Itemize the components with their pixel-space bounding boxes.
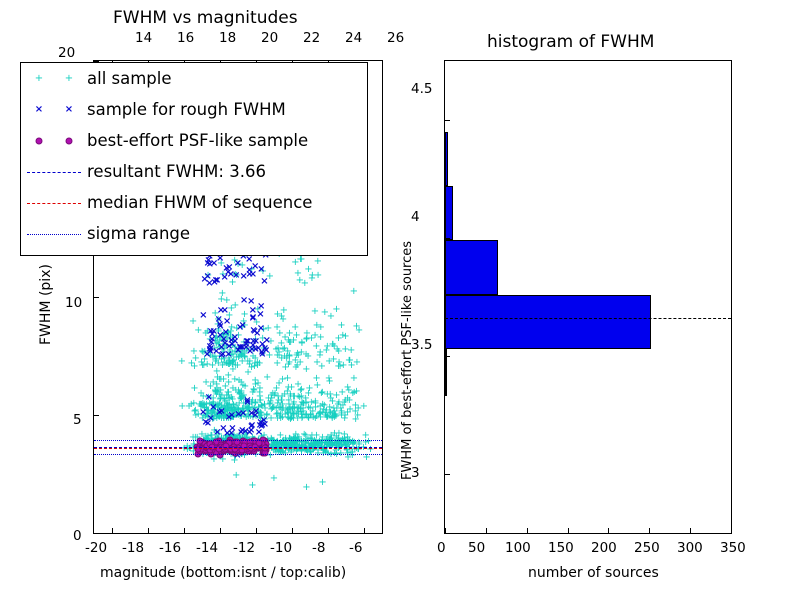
data-point: + [290, 403, 298, 413]
data-point: + [324, 412, 332, 422]
data-point: + [269, 436, 277, 446]
data-point: + [211, 410, 219, 420]
data-point: + [189, 317, 197, 327]
data-point: + [266, 399, 274, 409]
data-point: + [247, 363, 255, 373]
data-point: + [204, 393, 212, 403]
data-point: + [307, 334, 315, 344]
data-point: + [233, 361, 241, 371]
data-point: + [330, 411, 338, 421]
data-point: + [326, 390, 334, 400]
data-point: × [231, 337, 239, 347]
data-point: + [316, 402, 324, 412]
data-point: + [277, 396, 285, 406]
data-point: + [284, 413, 292, 423]
data-point: + [216, 408, 224, 418]
data-point: + [226, 348, 234, 358]
data-point: + [255, 359, 263, 369]
data-point: + [301, 394, 309, 404]
data-point: + [237, 378, 245, 388]
data-point: + [189, 433, 197, 443]
data-point: + [202, 378, 210, 388]
data-point: + [272, 410, 280, 420]
data-point: + [239, 399, 247, 409]
data-point: × [224, 268, 232, 278]
data-point: × [260, 416, 268, 426]
data-point: + [337, 411, 345, 421]
data-point: + [323, 390, 331, 400]
data-point: + [318, 400, 326, 410]
left-ytick-0: 0 [73, 528, 82, 544]
data-point: + [213, 373, 221, 383]
data-point: + [213, 437, 221, 447]
data-point: + [223, 333, 231, 343]
data-point: + [251, 398, 259, 408]
data-point: + [285, 414, 293, 424]
data-point: + [332, 412, 340, 422]
axis-tick [445, 528, 446, 533]
data-point: + [292, 363, 300, 373]
data-point: + [235, 399, 243, 409]
data-point: + [220, 414, 228, 424]
data-point: + [288, 405, 296, 415]
data-point: × [238, 426, 246, 436]
data-point: + [238, 261, 246, 271]
top-tick-16: 16 [177, 30, 194, 46]
data-point: + [245, 406, 253, 416]
data-point: + [309, 407, 317, 417]
data-point: + [200, 403, 208, 413]
data-point: + [228, 437, 236, 447]
xtick--18: -18 [122, 540, 144, 556]
data-point: + [315, 410, 323, 420]
data-point: + [209, 398, 217, 408]
data-point: + [215, 343, 223, 353]
data-point: + [260, 344, 268, 354]
data-point: + [316, 408, 324, 418]
data-point: + [238, 344, 246, 354]
data-point: + [217, 295, 225, 305]
data-point: + [250, 362, 258, 372]
data-point: + [318, 433, 326, 443]
data-point: + [200, 355, 208, 365]
data-point: × [245, 255, 253, 265]
legend-label-all-sample: all sample [87, 69, 172, 88]
data-point: + [294, 404, 302, 414]
data-point: + [190, 384, 198, 394]
data-point: + [216, 333, 224, 343]
data-point: + [238, 357, 246, 367]
data-point: + [295, 393, 303, 403]
data-point: + [187, 400, 195, 410]
data-point: + [297, 385, 305, 395]
data-point: + [213, 384, 221, 394]
data-point: + [296, 255, 304, 265]
data-point: + [282, 354, 290, 364]
data-point: + [217, 403, 225, 413]
legend-label-resultant-fwhm: resultant FWHM: 3.66 [87, 162, 266, 181]
data-point: × [256, 421, 264, 431]
data-point: × [217, 343, 225, 353]
data-point: + [281, 441, 289, 451]
data-point: + [244, 368, 252, 378]
data-point: + [207, 437, 215, 447]
data-point: + [354, 411, 362, 421]
data-point: + [293, 433, 301, 443]
data-point: + [228, 358, 236, 368]
data-point: + [220, 406, 228, 416]
data-point: + [223, 335, 231, 345]
data-point: + [323, 413, 331, 423]
data-point: × [225, 342, 233, 352]
data-point: + [313, 358, 321, 368]
legend-marker-dashed-red [21, 187, 87, 218]
data-point: + [231, 361, 239, 371]
data-point: + [311, 397, 319, 407]
hist-xtick-350: 350 [720, 540, 746, 556]
data-point: + [274, 392, 282, 402]
data-point: × [257, 265, 265, 275]
data-point: + [251, 399, 259, 409]
data-point: + [248, 433, 256, 443]
data-point: + [281, 333, 289, 343]
data-point: + [267, 414, 275, 424]
data-point: + [225, 436, 233, 446]
data-point: + [334, 400, 342, 410]
data-point: + [254, 305, 262, 315]
data-point: + [211, 334, 219, 344]
data-point: + [229, 413, 237, 423]
data-point: + [231, 347, 239, 357]
data-point: + [214, 315, 222, 325]
data-point: + [201, 347, 209, 357]
data-point: + [211, 402, 219, 412]
data-point: + [200, 400, 208, 410]
data-point: + [276, 329, 284, 339]
median-fwhm-line [94, 448, 382, 449]
xtick--8: -8 [312, 540, 325, 556]
axis-tick [94, 415, 99, 416]
data-point: + [255, 412, 263, 422]
data-point: + [325, 357, 333, 367]
data-point: + [216, 412, 224, 422]
data-point: + [259, 344, 267, 354]
data-point: × [212, 347, 220, 357]
data-point: × [260, 277, 268, 287]
data-point: + [334, 347, 342, 357]
data-point: + [204, 271, 212, 281]
data-point: + [337, 321, 345, 331]
data-point: + [339, 361, 347, 371]
axis-tick [328, 528, 329, 533]
data-point: + [290, 398, 298, 408]
data-point: + [257, 401, 265, 411]
data-point: + [267, 405, 275, 415]
legend-marker-dot [21, 125, 87, 156]
data-point: + [227, 433, 235, 443]
data-point: × [249, 306, 257, 316]
data-point: + [204, 406, 212, 416]
axis-tick [94, 533, 99, 534]
sigma-range-upper [94, 440, 382, 441]
data-point: + [352, 387, 360, 397]
data-point: + [285, 329, 293, 339]
data-point: + [340, 430, 348, 440]
data-point: + [202, 403, 210, 413]
data-point: + [285, 351, 293, 361]
data-point: × [215, 408, 223, 418]
hist-ytick-4-5: 4.5 [411, 81, 432, 97]
data-point: + [354, 404, 362, 414]
data-point: + [290, 437, 298, 447]
data-point: × [205, 279, 213, 289]
data-point: + [273, 414, 281, 424]
data-point: × [224, 350, 232, 360]
data-point: × [203, 350, 211, 360]
data-point: + [209, 437, 217, 447]
data-point: + [219, 270, 227, 280]
data-point: + [274, 409, 282, 419]
data-point: + [229, 401, 237, 411]
data-point: + [284, 336, 292, 346]
data-point: + [300, 437, 308, 447]
data-point: + [323, 413, 331, 423]
data-point: + [283, 387, 291, 397]
data-point: × [227, 270, 235, 280]
data-point: + [294, 392, 302, 402]
data-point: + [219, 455, 227, 465]
data-point: + [254, 437, 262, 447]
data-point: + [286, 390, 294, 400]
data-point: + [199, 448, 207, 458]
xtick--12: -12 [233, 540, 255, 556]
data-point: × [201, 275, 209, 285]
data-point: + [223, 405, 231, 415]
data-point: + [204, 349, 212, 359]
data-point: × [217, 407, 225, 417]
data-point: + [224, 359, 232, 369]
data-point: + [244, 412, 252, 422]
data-point: + [229, 365, 237, 375]
data-point: × [248, 345, 256, 355]
data-point: + [322, 411, 330, 421]
data-point: + [204, 412, 212, 422]
data-point: + [278, 448, 286, 458]
data-point: + [242, 434, 250, 444]
data-point: + [195, 400, 203, 410]
data-point: + [229, 436, 237, 446]
axis-tick [649, 528, 650, 533]
data-point: + [219, 337, 227, 347]
data-point: + [234, 404, 242, 414]
data-point: × [242, 337, 250, 347]
data-point: + [200, 411, 208, 421]
data-point: × [254, 344, 262, 354]
data-point: + [275, 379, 283, 389]
data-point: + [270, 474, 278, 484]
data-point: × [199, 311, 207, 321]
axis-tick [445, 356, 450, 357]
data-point: + [315, 437, 323, 447]
data-point: + [227, 430, 235, 440]
data-point: + [217, 414, 225, 424]
data-point: + [274, 448, 282, 458]
data-point: + [218, 345, 226, 355]
data-point: + [297, 255, 305, 265]
data-point: + [212, 332, 220, 342]
data-point: + [234, 345, 242, 355]
data-point: + [204, 432, 212, 442]
data-point: + [355, 326, 363, 336]
data-point: + [287, 383, 295, 393]
data-point: + [199, 399, 207, 409]
data-point: + [212, 388, 220, 398]
data-point: + [214, 400, 222, 410]
data-point: + [213, 408, 221, 418]
data-point: + [215, 336, 223, 346]
data-point: + [225, 437, 233, 447]
data-point: + [238, 323, 246, 333]
data-point: + [223, 296, 231, 306]
histogram-plot-area [444, 60, 732, 534]
data-point: + [209, 406, 217, 416]
data-point: + [250, 386, 258, 396]
data-point: + [231, 343, 239, 353]
data-point: + [271, 389, 279, 399]
axis-tick [184, 528, 185, 533]
data-point: + [232, 411, 240, 421]
data-point: + [284, 406, 292, 416]
data-point: + [225, 401, 233, 411]
data-point: + [298, 414, 306, 424]
data-point: + [278, 404, 286, 414]
data-point: + [226, 346, 234, 356]
data-point: + [311, 307, 319, 317]
data-point: + [194, 326, 202, 336]
data-point: + [219, 340, 227, 350]
data-point: + [222, 359, 230, 369]
data-point: + [219, 375, 227, 385]
data-point: + [221, 411, 229, 421]
data-point: + [244, 404, 252, 414]
data-point: + [229, 350, 237, 360]
data-point: + [232, 401, 240, 411]
data-point: + [206, 351, 214, 361]
data-point: + [231, 375, 239, 385]
data-point: + [280, 352, 288, 362]
data-point: + [208, 408, 216, 418]
data-point: + [306, 411, 314, 421]
data-point: + [229, 412, 237, 422]
data-point: + [185, 402, 193, 412]
data-point: + [292, 430, 300, 440]
data-point: + [278, 400, 286, 410]
data-point: × [251, 411, 259, 421]
data-point: + [321, 409, 329, 419]
data-point: + [290, 409, 298, 419]
legend-label-rough-fwhm: sample for rough FWHM [87, 100, 286, 119]
data-point: + [286, 409, 294, 419]
data-point: + [286, 338, 294, 348]
data-point: + [215, 352, 223, 362]
data-point: × [216, 322, 224, 332]
data-point: + [249, 385, 257, 395]
data-point: × [228, 424, 236, 434]
data-point: + [211, 436, 219, 446]
data-point: + [218, 391, 226, 401]
data-point: + [219, 330, 227, 340]
data-point: + [236, 394, 244, 404]
data-point: + [244, 403, 252, 413]
data-point: + [199, 392, 207, 402]
data-point: + [287, 414, 295, 424]
data-point: + [210, 406, 218, 416]
data-point: × [257, 422, 265, 432]
data-point: + [258, 402, 266, 412]
data-point: × [207, 338, 215, 348]
data-point: × [207, 327, 215, 337]
data-point: × [246, 347, 254, 357]
data-point: + [248, 396, 256, 406]
data-point: + [316, 413, 324, 423]
data-point: + [329, 409, 337, 419]
data-point: + [287, 448, 295, 458]
data-point: + [234, 406, 242, 416]
data-point: + [227, 327, 235, 337]
data-point: + [279, 404, 287, 414]
data-point: + [200, 361, 208, 371]
data-point: × [262, 346, 270, 356]
data-point: + [292, 410, 300, 420]
data-point: + [345, 396, 353, 406]
data-point: + [243, 405, 251, 415]
data-point: + [202, 329, 210, 339]
data-point: + [289, 400, 297, 410]
data-point: × [210, 278, 218, 288]
data-point: + [328, 414, 336, 424]
data-point: + [217, 404, 225, 414]
data-point: + [210, 414, 218, 424]
data-point: + [286, 415, 294, 425]
data-point: + [274, 344, 282, 354]
data-point: × [203, 259, 211, 269]
data-point: + [311, 331, 319, 341]
data-point: + [318, 408, 326, 418]
data-point: × [221, 273, 229, 283]
data-point: + [222, 434, 230, 444]
data-point: + [209, 378, 217, 388]
data-point: + [190, 399, 198, 409]
data-point: + [238, 436, 246, 446]
data-point: + [229, 333, 237, 343]
data-point: + [257, 411, 265, 421]
data-point: + [303, 334, 311, 344]
data-point: + [219, 331, 227, 341]
xtick--20: -20 [85, 540, 107, 556]
data-point: + [304, 389, 312, 399]
data-point: × [228, 411, 236, 421]
data-point: + [190, 362, 198, 372]
data-point: + [219, 409, 227, 419]
data-point: × [231, 333, 239, 343]
data-point: + [197, 389, 205, 399]
data-point: + [187, 359, 195, 369]
axis-tick [527, 528, 528, 533]
data-point: + [208, 400, 216, 410]
data-point: + [241, 321, 249, 331]
data-point: + [230, 356, 238, 366]
data-point: + [226, 414, 234, 424]
